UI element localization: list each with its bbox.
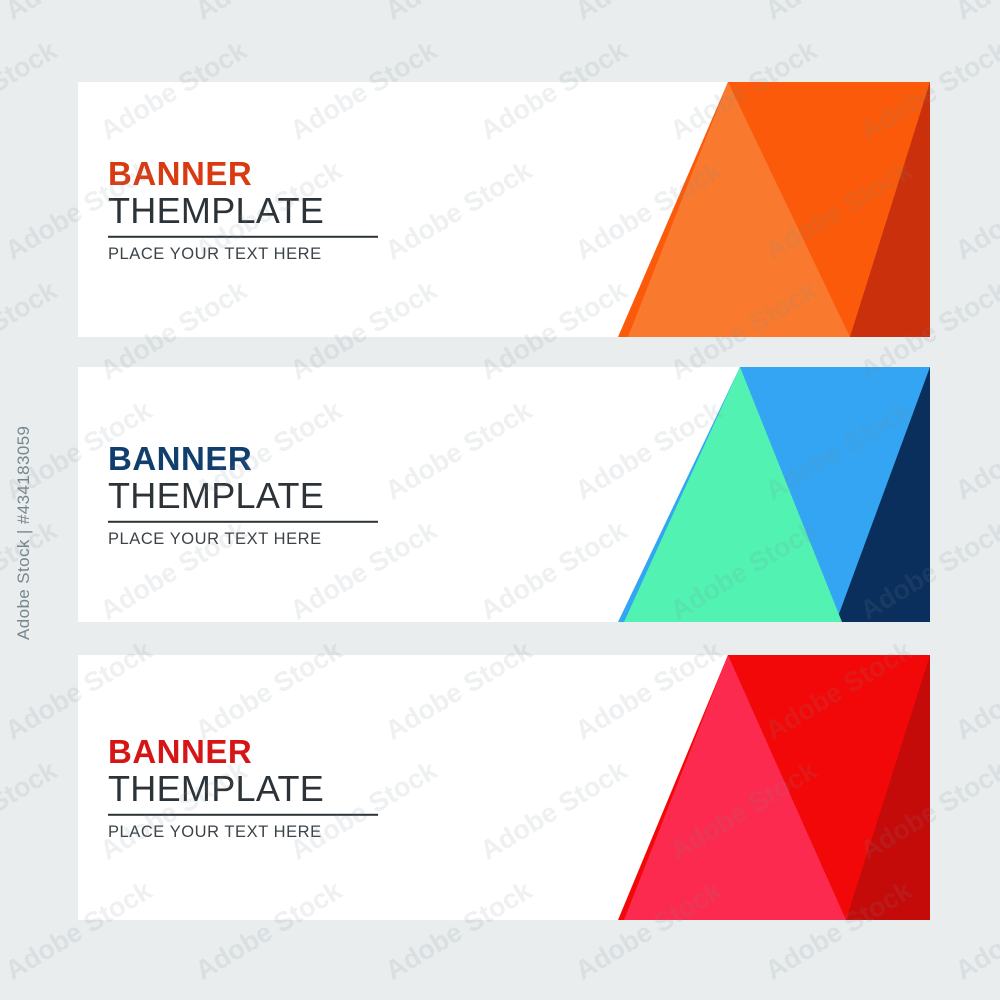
banner-divider	[108, 521, 378, 523]
watermark-tile: Adobe Stock	[950, 395, 1000, 507]
watermark-tile: Adobe Stock	[950, 0, 1000, 27]
adobe-stock-id-watermark: Adobe Stock | #434183059	[14, 426, 34, 640]
watermark-tile: Adobe Stock	[950, 875, 1000, 987]
banner-card-orange[interactable]: BANNER THEMPLATE PLACE YOUR TEXT HERE	[78, 82, 930, 337]
watermark-tile: Adobe Stock	[665, 995, 822, 1000]
watermark-tile: Adobe Stock	[190, 0, 347, 27]
watermark-tile: Adobe Stock	[0, 0, 157, 27]
watermark-tile: Adobe Stock	[475, 995, 632, 1000]
banner-text-block: BANNER THEMPLATE PLACE YOUR TEXT HERE	[108, 734, 408, 840]
watermark-tile: Adobe Stock	[855, 995, 1000, 1000]
watermark-tile: Adobe Stock	[0, 275, 62, 387]
watermark-tile: Adobe Stock	[0, 995, 62, 1000]
watermark-tile: Adobe Stock	[380, 0, 537, 27]
banner-headline: BANNER	[108, 441, 408, 476]
banner-headline: BANNER	[108, 156, 408, 191]
banner-tagline: PLACE YOUR TEXT HERE	[108, 530, 408, 548]
geometric-art-orange	[618, 82, 930, 337]
watermark-tile: Adobe Stock	[285, 995, 442, 1000]
banner-subhead: THEMPLATE	[108, 769, 408, 809]
watermark-tile: Adobe Stock	[95, 995, 252, 1000]
banner-card-blue[interactable]: BANNER THEMPLATE PLACE YOUR TEXT HERE	[78, 367, 930, 622]
banner-template-canvas: BANNER THEMPLATE PLACE YOUR TEXT HERE BA…	[0, 0, 1000, 1000]
banner-tagline: PLACE YOUR TEXT HERE	[108, 823, 408, 841]
geometric-art-blue	[618, 367, 930, 622]
banner-tagline: PLACE YOUR TEXT HERE	[108, 245, 408, 263]
banner-divider	[108, 236, 378, 238]
watermark-tile: Adobe Stock	[760, 0, 917, 27]
banner-text-block: BANNER THEMPLATE PLACE YOUR TEXT HERE	[108, 441, 408, 547]
banner-card-red[interactable]: BANNER THEMPLATE PLACE YOUR TEXT HERE	[78, 655, 930, 920]
banner-text-block: BANNER THEMPLATE PLACE YOUR TEXT HERE	[108, 156, 408, 262]
watermark-tile: Adobe Stock	[0, 35, 62, 147]
banner-divider	[108, 814, 378, 816]
watermark-tile: Adobe Stock	[570, 0, 727, 27]
geometric-art-red	[618, 655, 930, 920]
banner-headline: BANNER	[108, 734, 408, 769]
watermark-tile: Adobe Stock	[0, 755, 62, 867]
watermark-tile: Adobe Stock	[950, 635, 1000, 747]
watermark-tile: Adobe Stock	[950, 155, 1000, 267]
banner-subhead: THEMPLATE	[108, 476, 408, 516]
banner-subhead: THEMPLATE	[108, 191, 408, 231]
